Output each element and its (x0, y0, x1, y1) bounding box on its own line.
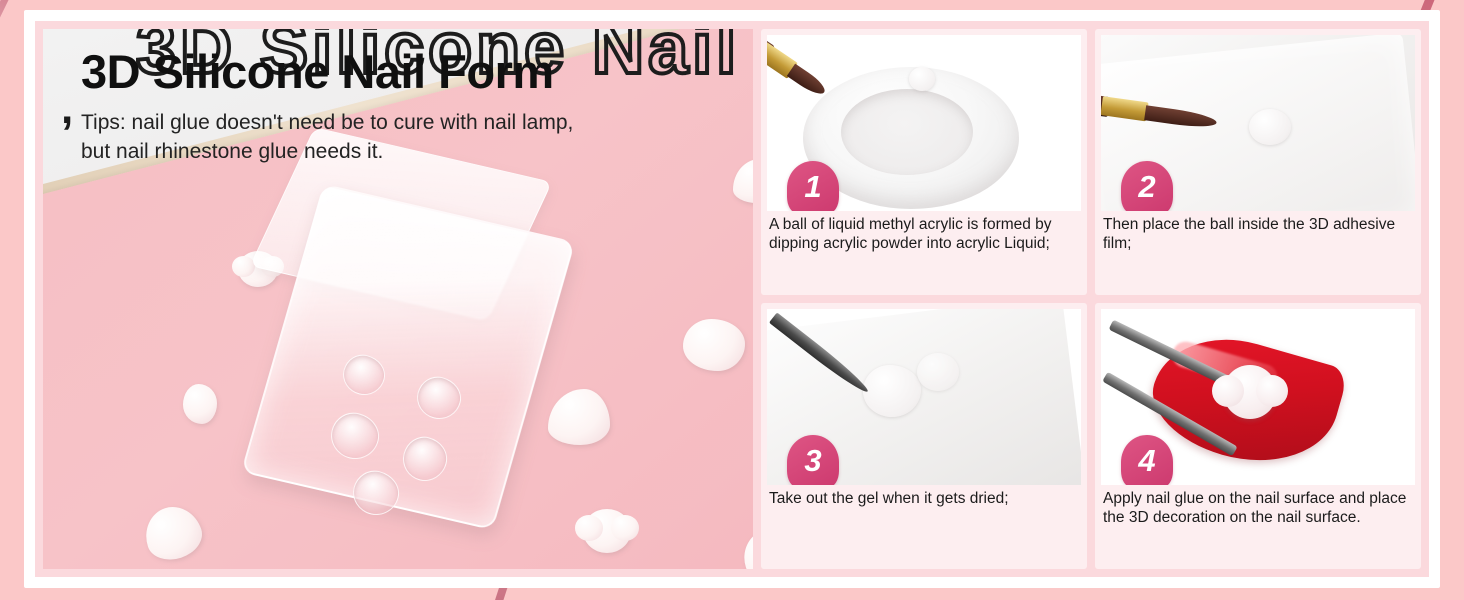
step-3-caption: Take out the gel when it gets dried; (767, 490, 1081, 509)
banner-frame: 3D Silicone Nail Form , 3D Silicone Nail… (24, 10, 1440, 588)
step-badge-4: 4 (1121, 435, 1173, 485)
step-3-photo: 3 (767, 309, 1081, 485)
page-title: 3D Silicone Nail Form (81, 47, 691, 96)
step-2-caption: Then place the ball inside the 3D adhesi… (1101, 216, 1415, 254)
brush-tip (787, 64, 829, 99)
step-4-caption: Apply nail glue on the nail surface and … (1101, 490, 1415, 528)
acrylic-ball (909, 67, 935, 91)
step-card-3: 3 Take out the gel when it gets dried; (761, 303, 1087, 569)
step-2-photo: 2 (1101, 35, 1415, 211)
step-1-photo: 1 (767, 35, 1081, 211)
step-card-1: 1 A ball of liquid methyl acrylic is for… (761, 29, 1087, 295)
step-badge-1: 1 (787, 161, 839, 211)
step-1-caption: A ball of liquid methyl acrylic is forme… (767, 216, 1081, 254)
mold-cavity-impression (917, 353, 959, 391)
step-badge-2: 2 (1121, 161, 1173, 211)
3d-flower-decoration (1223, 365, 1277, 419)
tips-text: Tips: nail glue doesn't need be to cure … (81, 109, 581, 166)
banner-mat: 3D Silicone Nail Form , 3D Silicone Nail… (35, 21, 1429, 577)
resin-charm-flower-2 (583, 509, 631, 553)
dried-gel-piece (863, 365, 921, 417)
hero-product-photo: 3D Silicone Nail Form , 3D Silicone Nail… (43, 29, 753, 569)
step-card-2: 2 Then place the ball inside the 3D adhe… (1095, 29, 1421, 295)
step-badge-3: 3 (787, 435, 839, 485)
acrylic-ball-on-film (1249, 109, 1291, 145)
step-4-photo: 4 (1101, 309, 1415, 485)
step-card-4: 4 Apply nail glue on the nail surface an… (1095, 303, 1421, 569)
resin-charm-bow (183, 384, 217, 424)
title-block: 3D Silicone Nail Form , 3D Silicone Nail… (81, 47, 691, 166)
acrylic-dish-inner (841, 89, 973, 175)
resin-charm-bow-2 (683, 319, 745, 371)
promo-banner: 3D Silicone Nail Form , 3D Silicone Nail… (0, 0, 1464, 600)
steps-grid: 1 A ball of liquid methyl acrylic is for… (761, 29, 1421, 569)
stray-comma-mark: , (61, 87, 73, 131)
